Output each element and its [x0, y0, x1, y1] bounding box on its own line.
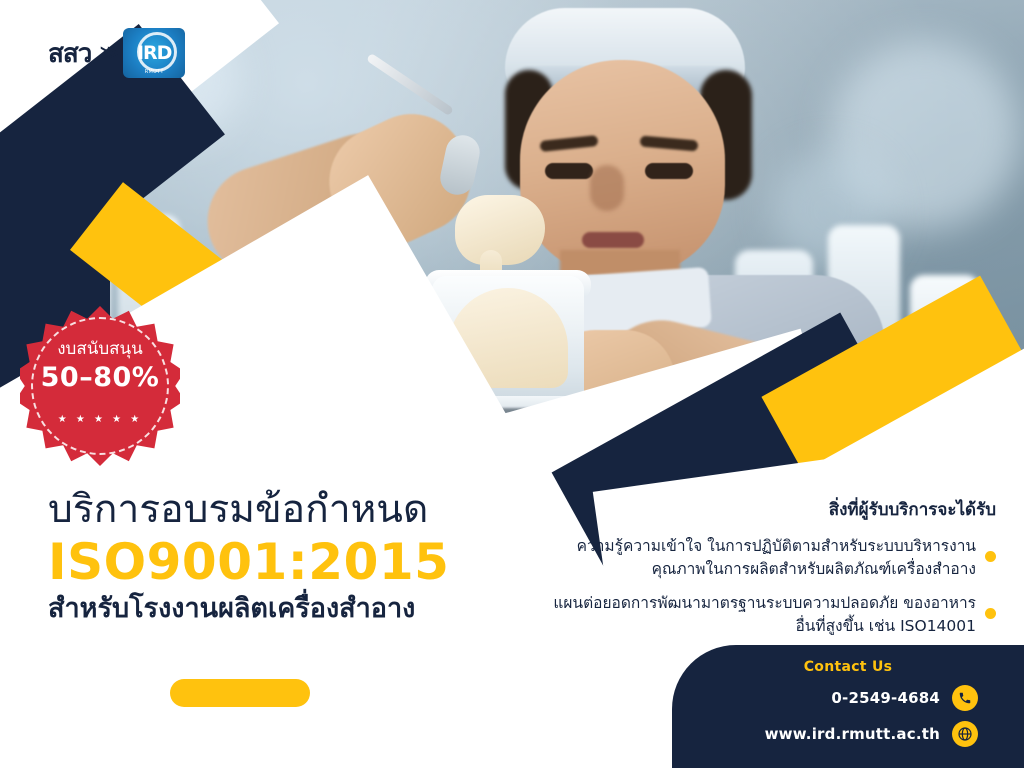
benefit-item: แผนต่อยอดการพัฒนามาตรฐานระบบความปลอดภัย … — [536, 592, 996, 638]
headline-line-2: ISO9001:2015 — [48, 533, 449, 591]
badge-stars-icon: ★ ★ ★ ★ ★ — [20, 414, 180, 425]
contact-website-text: www.ird.rmutt.ac.th — [765, 725, 940, 743]
irdt-logo-text: IRD — [137, 42, 171, 64]
contact-panel: Contact Us 0-2549-4684 www.ird.rmutt.ac.… — [672, 645, 1024, 768]
poster-canvas: สสว ≫ IRD RMUTT งบสนับสนุน 50–80% ★ ★ ★ … — [0, 0, 1024, 768]
contact-phone-row[interactable]: 0-2549-4684 — [672, 685, 1024, 711]
irdt-logo-subtext: RMUTT — [123, 69, 185, 75]
bullet-dot-icon — [985, 608, 996, 619]
headline-line-3: สำหรับโรงงานผลิตเครื่องสำอาง — [48, 591, 449, 627]
badge-line1: งบสนับสนุน — [20, 336, 180, 362]
badge-text: งบสนับสนุน 50–80% — [20, 336, 180, 394]
brand-logo: สสว ≫ IRD RMUTT — [48, 28, 185, 78]
benefit-item: ความรู้ความเข้าใจ ในการปฏิบัติตามสำหรับร… — [536, 535, 996, 581]
benefit-item-text: แผนต่อยอดการพัฒนามาตรฐานระบบความปลอดภัย … — [536, 592, 976, 638]
bullet-dot-icon — [985, 551, 996, 562]
subsidy-badge: งบสนับสนุน 50–80% ★ ★ ★ ★ ★ — [20, 306, 180, 466]
contact-title: Contact Us — [672, 659, 1024, 675]
eye-right — [645, 163, 693, 179]
phone-icon — [952, 685, 978, 711]
spatula-handle — [366, 53, 454, 116]
irdt-logo: IRD RMUTT — [123, 28, 185, 78]
globe-icon — [952, 721, 978, 747]
benefit-item-text: ความรู้ความเข้าใจ ในการปฏิบัติตามสำหรับร… — [536, 535, 976, 581]
mouth — [582, 232, 644, 248]
badge-line2: 50–80% — [20, 362, 180, 394]
sme-logo-text: สสว — [48, 33, 91, 74]
nose — [590, 165, 624, 211]
yellow-accent-pill — [170, 679, 310, 707]
headline-line-1: บริการอบรมข้อกำหนด — [48, 487, 449, 533]
headline-block: บริการอบรมข้อกำหนด ISO9001:2015 สำหรับโร… — [48, 487, 449, 627]
contact-phone-text: 0-2549-4684 — [831, 689, 940, 707]
chevron-right-icon: ≫ — [99, 42, 115, 64]
eye-left — [545, 163, 593, 179]
benefits-block: สิ่งที่ผู้รับบริการจะได้รับ ความรู้ความเ… — [536, 496, 996, 649]
benefits-title: สิ่งที่ผู้รับบริการจะได้รับ — [536, 496, 996, 523]
contact-website-row[interactable]: www.ird.rmutt.ac.th — [672, 721, 1024, 747]
